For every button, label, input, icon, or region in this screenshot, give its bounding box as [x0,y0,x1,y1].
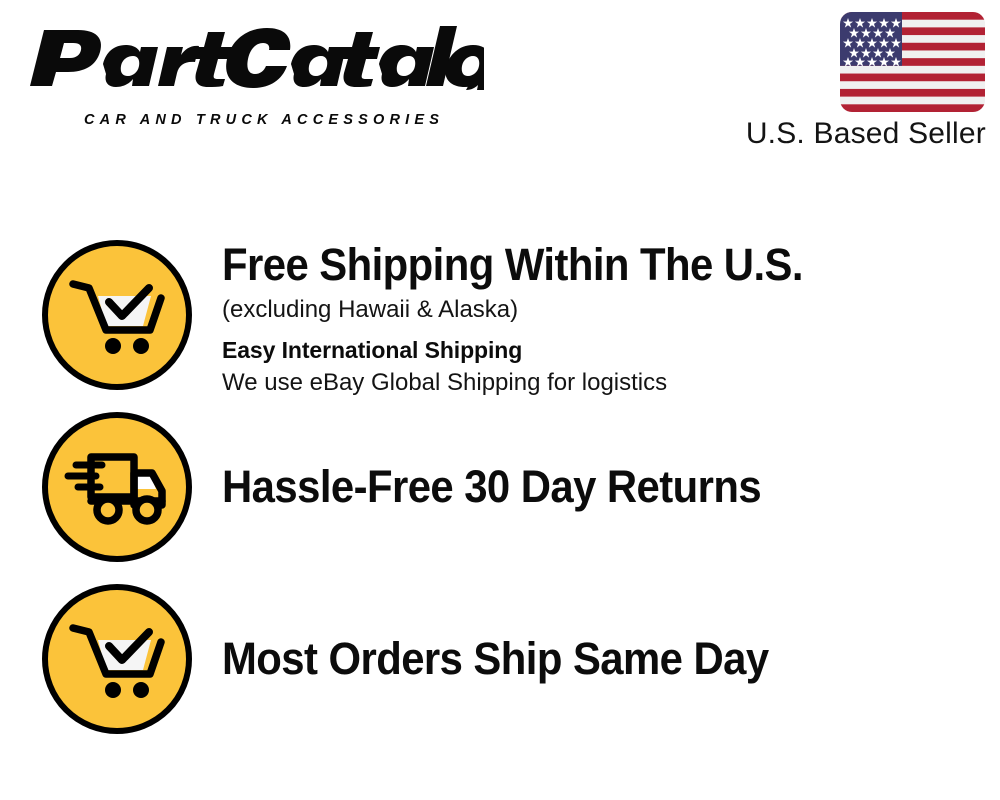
feature-row: Hassle-Free 30 Day Returns [0,412,1000,584]
feature-row: Free Shipping Within The U.S. (excluding… [0,240,1000,412]
feature-subheading: Easy International Shipping [222,335,1000,366]
logo-wordmark-icon [22,24,484,90]
shipping-info-banner: CAR AND TRUCK ACCESSORIES [0,0,1000,800]
partcatalog-logo: CAR AND TRUCK ACCESSORIES [22,24,492,90]
feature-row: Most Orders Ship Same Day [0,584,1000,756]
delivery-truck-icon [42,412,192,562]
feature-text-cell: Free Shipping Within The U.S. (excluding… [222,240,1000,399]
feature-note: (excluding Hawaii & Alaska) [222,294,1000,326]
us-based-seller-label: U.S. Based Seller [746,116,986,152]
shopping-cart-check-icon [42,584,192,734]
feature-icon-cell [0,412,222,562]
feature-text-cell: Hassle-Free 30 Day Returns [222,412,1000,562]
feature-text-cell: Most Orders Ship Same Day [222,584,1000,734]
feature-heading: Most Orders Ship Same Day [222,634,769,684]
banner-header: CAR AND TRUCK ACCESSORIES [0,0,1000,170]
feature-icon-cell [0,240,222,390]
feature-icon-cell [0,584,222,734]
feature-subnote: We use eBay Global Shipping for logistic… [222,367,1000,399]
logo-tagline: CAR AND TRUCK ACCESSORIES [84,112,444,128]
shopping-cart-check-icon [42,240,192,390]
feature-heading: Hassle-Free 30 Day Returns [222,462,761,512]
us-flag-icon [840,12,985,112]
feature-heading: Free Shipping Within The U.S. [222,240,946,290]
